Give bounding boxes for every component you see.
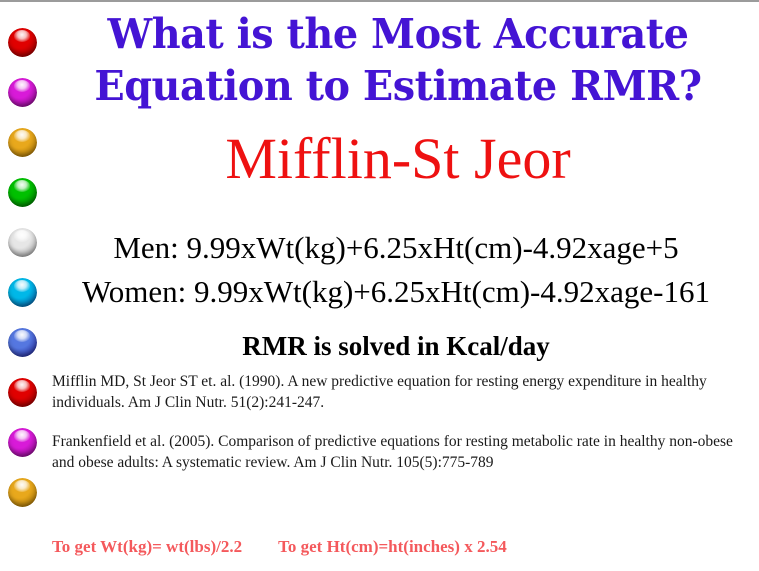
sphere-highlight — [14, 280, 30, 292]
top-divider-rule — [0, 0, 759, 2]
equation-group: Men: 9.99xWt(kg)+6.25xHt(cm)-4.92xage+5 … — [40, 226, 752, 314]
equation-women: Women: 9.99xWt(kg)+6.25xHt(cm)-4.92xage-… — [40, 270, 752, 314]
sphere-highlight — [14, 130, 30, 142]
sphere-highlight — [14, 30, 30, 42]
title-line-1: What is the Most Accurate — [59, 8, 738, 60]
sphere-highlight — [14, 330, 30, 342]
sphere-highlight — [14, 380, 30, 392]
sphere-magenta-1-icon — [8, 78, 37, 107]
weight-conversion: To get Wt(kg)= wt(lbs)/2.2 — [52, 537, 242, 556]
sphere-magenta-2-icon — [8, 428, 37, 457]
sphere-highlight — [14, 230, 30, 242]
title-line-2: Equation to Estimate RMR? — [59, 60, 738, 112]
sphere-red-1-icon — [8, 28, 37, 57]
sphere-highlight — [14, 180, 30, 192]
sphere-highlight — [14, 430, 30, 442]
sphere-gold-2-icon — [8, 478, 37, 507]
sphere-cyan-icon — [8, 278, 37, 307]
units-note: RMR is solved in Kcal/day — [40, 329, 752, 363]
sphere-blue-icon — [8, 328, 37, 357]
slide-title: What is the Most Accurate Equation to Es… — [48, 8, 748, 112]
decorative-bullet-column — [5, 28, 45, 548]
sphere-silver-icon — [8, 228, 37, 257]
sphere-gold-1-icon — [8, 128, 37, 157]
slide-canvas: What is the Most Accurate Equation to Es… — [0, 0, 759, 571]
equation-men: Men: 9.99xWt(kg)+6.25xHt(cm)-4.92xage+5 — [40, 226, 752, 270]
sphere-highlight — [14, 80, 30, 92]
answer-headline: Mifflin-St Jeor — [48, 126, 748, 192]
citation-frankenfield: Frankenfield et al. (2005). Comparison o… — [52, 431, 752, 473]
unit-conversion-note: To get Wt(kg)= wt(lbs)/2.2To get Ht(cm)=… — [52, 535, 752, 559]
height-conversion: To get Ht(cm)=ht(inches) x 2.54 — [278, 537, 507, 556]
citation-mifflin: Mifflin MD, St Jeor ST et. al. (1990). A… — [52, 371, 752, 413]
sphere-green-icon — [8, 178, 37, 207]
sphere-highlight — [14, 480, 30, 492]
sphere-red-2-icon — [8, 378, 37, 407]
